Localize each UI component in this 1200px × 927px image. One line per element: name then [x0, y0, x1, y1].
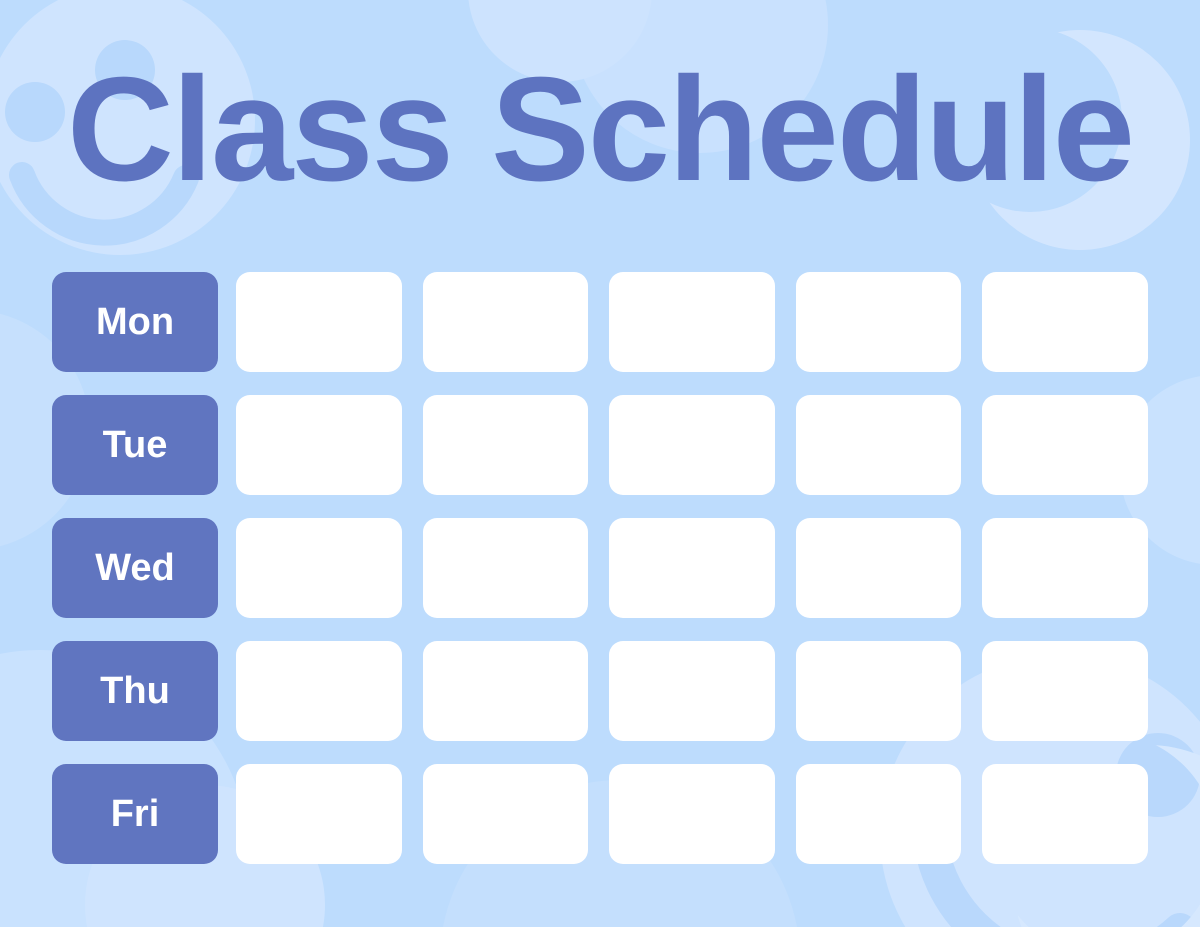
schedule-cell-fri-5[interactable]: [982, 764, 1148, 864]
schedule-cell-fri-4[interactable]: [796, 764, 962, 864]
schedule-cell-thu-4[interactable]: [796, 641, 962, 741]
schedule-cell-mon-2[interactable]: [423, 272, 589, 372]
schedule-grid: Mon Tue: [52, 272, 1148, 864]
schedule-cell-thu-3[interactable]: [609, 641, 775, 741]
schedule-cell-wed-4[interactable]: [796, 518, 962, 618]
schedule-page: Class Schedule Mon Tue: [0, 0, 1200, 927]
schedule-cell-wed-2[interactable]: [423, 518, 589, 618]
day-label-fri-text: Fri: [111, 793, 160, 836]
schedule-cells-fri: [236, 764, 1148, 864]
schedule-cell-thu-5[interactable]: [982, 641, 1148, 741]
schedule-cell-fri-3[interactable]: [609, 764, 775, 864]
page-title: Class Schedule: [0, 56, 1200, 204]
schedule-cell-tue-4[interactable]: [796, 395, 962, 495]
day-label-mon-text: Mon: [96, 301, 174, 344]
schedule-row-fri: Fri: [52, 764, 1148, 864]
day-label-wed[interactable]: Wed: [52, 518, 218, 618]
schedule-cell-tue-2[interactable]: [423, 395, 589, 495]
schedule-cell-tue-1[interactable]: [236, 395, 402, 495]
day-label-tue-text: Tue: [103, 424, 168, 467]
schedule-row-thu: Thu: [52, 641, 1148, 741]
schedule-row-wed: Wed: [52, 518, 1148, 618]
schedule-cell-mon-3[interactable]: [609, 272, 775, 372]
day-label-mon[interactable]: Mon: [52, 272, 218, 372]
schedule-cell-mon-4[interactable]: [796, 272, 962, 372]
schedule-cell-tue-3[interactable]: [609, 395, 775, 495]
schedule-cell-thu-1[interactable]: [236, 641, 402, 741]
schedule-cell-wed-5[interactable]: [982, 518, 1148, 618]
schedule-cells-wed: [236, 518, 1148, 618]
schedule-row-tue: Tue: [52, 395, 1148, 495]
schedule-cell-tue-5[interactable]: [982, 395, 1148, 495]
schedule-cell-fri-2[interactable]: [423, 764, 589, 864]
day-label-fri[interactable]: Fri: [52, 764, 218, 864]
day-label-tue[interactable]: Tue: [52, 395, 218, 495]
schedule-cell-mon-1[interactable]: [236, 272, 402, 372]
schedule-cell-thu-2[interactable]: [423, 641, 589, 741]
schedule-cells-mon: [236, 272, 1148, 372]
schedule-cell-wed-1[interactable]: [236, 518, 402, 618]
schedule-cell-mon-5[interactable]: [982, 272, 1148, 372]
day-label-thu-text: Thu: [100, 670, 170, 713]
schedule-cell-fri-1[interactable]: [236, 764, 402, 864]
day-label-thu[interactable]: Thu: [52, 641, 218, 741]
schedule-cell-wed-3[interactable]: [609, 518, 775, 618]
schedule-cells-tue: [236, 395, 1148, 495]
day-label-wed-text: Wed: [95, 547, 175, 590]
schedule-row-mon: Mon: [52, 272, 1148, 372]
schedule-cells-thu: [236, 641, 1148, 741]
